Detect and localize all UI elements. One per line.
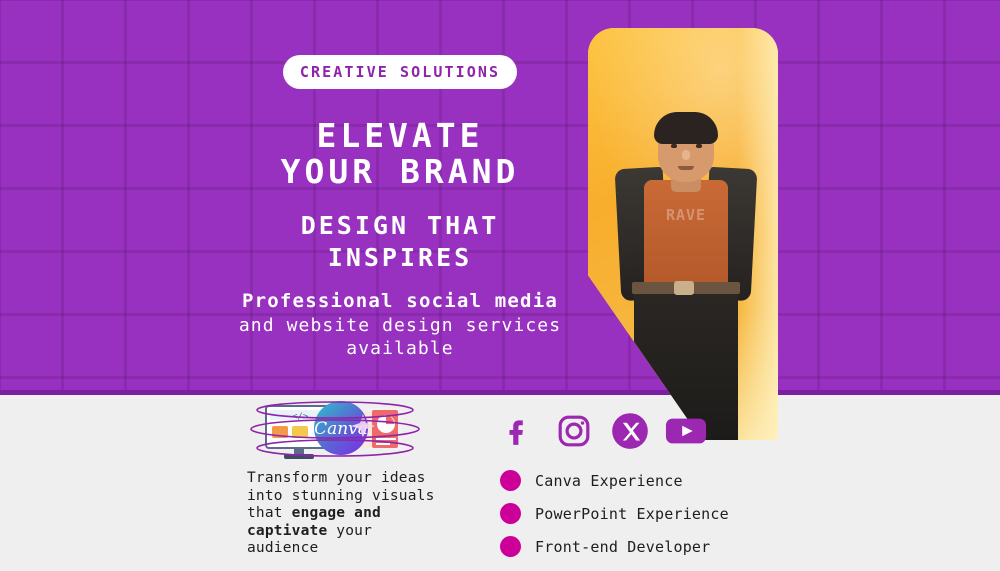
bullet-dot-icon (500, 503, 521, 524)
skill-label: PowerPoint Experience (535, 505, 729, 523)
x-twitter-icon[interactable] (609, 410, 651, 452)
eye-right (696, 144, 702, 148)
skill-label: Front-end Developer (535, 538, 710, 556)
eye-left (671, 144, 677, 148)
canva-wordmark: Canva (314, 419, 368, 439)
list-item: Front-end Developer (500, 530, 729, 563)
hero-description: Professional social media and website de… (110, 288, 690, 360)
promo-banner: CREATIVE SOLUTIONS ELEVATE YOUR BRAND DE… (0, 0, 1000, 571)
shirt-graphic-text: RAVE (644, 206, 728, 224)
hair (654, 112, 718, 144)
canva-design-graphic: </> Canva (246, 398, 424, 460)
belt-buckle (674, 281, 694, 295)
nose (682, 150, 690, 160)
bullet-dot-icon (500, 536, 521, 557)
instagram-icon[interactable] (553, 410, 595, 452)
youtube-icon[interactable] (665, 410, 707, 452)
footer-description: Transform your ideas into stunning visua… (247, 470, 452, 558)
social-links (497, 410, 707, 452)
list-item: Canva Experience (500, 464, 729, 497)
bullet-dot-icon (500, 470, 521, 491)
list-item: PowerPoint Experience (500, 497, 729, 530)
hero-description-line-1: and website design services (110, 314, 690, 337)
skill-label: Canva Experience (535, 472, 683, 490)
hero-description-line-2: available (110, 337, 690, 360)
skills-list: Canva Experience PowerPoint Experience F… (500, 464, 729, 563)
mouth (678, 166, 694, 170)
facebook-icon[interactable] (497, 410, 539, 452)
badge-label: CREATIVE SOLUTIONS (300, 63, 500, 81)
creative-solutions-badge[interactable]: CREATIVE SOLUTIONS (283, 55, 517, 89)
t-shirt: RAVE (644, 180, 728, 288)
